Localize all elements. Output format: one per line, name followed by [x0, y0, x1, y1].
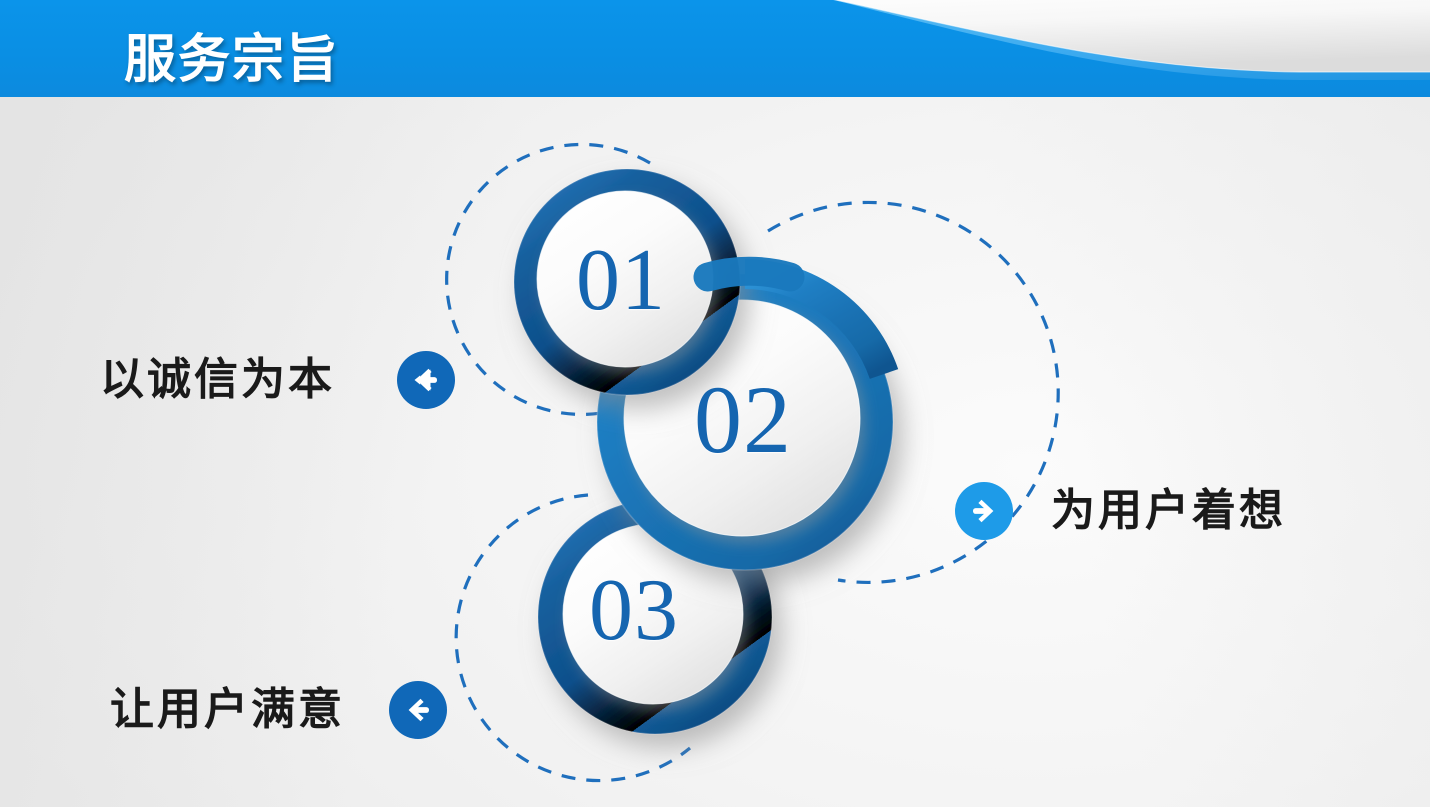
callout-user-first-label: 为用户着想 — [1051, 489, 1286, 533]
header-band: 服务宗旨 — [0, 0, 1430, 97]
arrow-right-glyph — [966, 493, 1002, 529]
arrow-left-icon[interactable] — [397, 351, 455, 409]
slide-root: 服务宗旨 — [0, 0, 1430, 807]
arrow-right-icon[interactable] — [955, 482, 1013, 540]
arrow-left-glyph — [408, 362, 444, 398]
arrow-left-icon[interactable] — [389, 681, 447, 739]
callout-integrity-label: 以诚信为本 — [100, 358, 335, 402]
circles-diagram: 01 02 03 以诚信为本 为用户着想 — [0, 97, 1430, 807]
circle-01-number: 01 — [576, 237, 666, 325]
callout-user-first: 为用户着想 — [955, 482, 1286, 540]
callout-integrity: 以诚信为本 — [100, 351, 455, 409]
page-title: 服务宗旨 — [124, 17, 340, 92]
circle-03-number: 03 — [589, 567, 679, 655]
callout-satisfaction-label: 让用户满意 — [110, 688, 345, 732]
circle-02-number: 02 — [694, 372, 792, 468]
arrow-left-glyph — [400, 692, 436, 728]
callout-satisfaction: 让用户满意 — [110, 681, 447, 739]
